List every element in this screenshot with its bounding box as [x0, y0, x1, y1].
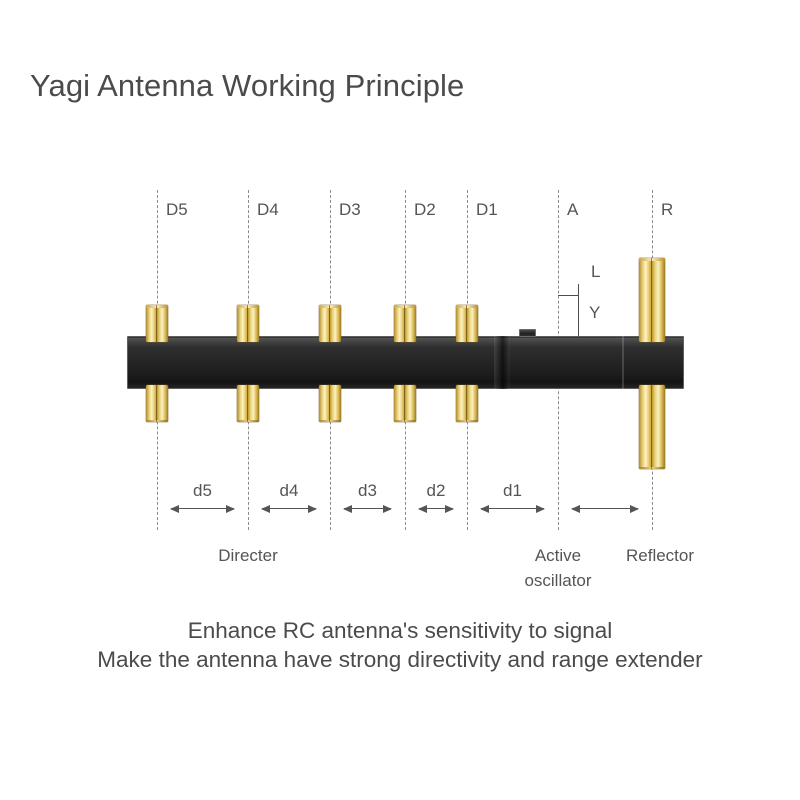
- dimension-arrow-d3: [344, 508, 391, 509]
- rod-d5-lower: [146, 385, 168, 422]
- dimension-label-d3: d3: [344, 481, 391, 501]
- dimension-arrow-d1: [481, 508, 544, 509]
- rod-cap-icon: [639, 467, 665, 470]
- offset-label-Y: Y: [589, 303, 600, 323]
- rod-cap-icon: [456, 305, 478, 308]
- element-label-d2: D2: [414, 200, 436, 220]
- antenna-diagram: D5D4D3D2D1AR L Y d5d4d3d2d1 DirecterActi…: [0, 0, 800, 800]
- element-label-d5: D5: [166, 200, 188, 220]
- offset-marker-horizontal-tick: [558, 295, 579, 296]
- rod-cap-icon: [319, 305, 341, 308]
- rod-d3-upper: [319, 305, 341, 342]
- dimension-label-d5: d5: [171, 481, 234, 501]
- rod-d5-upper: [146, 305, 168, 342]
- rod-cap-icon: [146, 420, 168, 423]
- boom-segment-edge: [622, 336, 624, 389]
- element-label-d4: D4: [257, 200, 279, 220]
- rod-d3-lower: [319, 385, 341, 422]
- rod-cap-icon: [237, 420, 259, 423]
- element-label-r: R: [661, 200, 673, 220]
- rod-cap-icon: [394, 420, 416, 423]
- group-caption-reflector: Reflector: [570, 543, 750, 568]
- dimension-arrow-d5: [171, 508, 234, 509]
- dimension-arrow-d2: [419, 508, 453, 509]
- length-label-L: L: [591, 262, 600, 282]
- dimension-label-d4: d4: [262, 481, 316, 501]
- rod-cap-icon: [146, 305, 168, 308]
- rod-d1-lower: [456, 385, 478, 422]
- element-label-d3: D3: [339, 200, 361, 220]
- rod-d4-upper: [237, 305, 259, 342]
- rod-d1-upper: [456, 305, 478, 342]
- rod-cap-icon: [456, 420, 478, 423]
- rod-d4-lower: [237, 385, 259, 422]
- rod-r-upper: [639, 258, 665, 342]
- diagram-page: Yagi Antenna Working Principle D5D4D3D2D…: [0, 0, 800, 800]
- caption-line-1: Enhance RC antenna's sensitivity to sign…: [0, 618, 800, 644]
- rod-cap-icon: [394, 305, 416, 308]
- dimension-arrow-a-r: [572, 508, 638, 509]
- rod-r-lower: [639, 385, 665, 469]
- length-marker-vertical-line: [578, 284, 579, 337]
- rod-cap-icon: [237, 305, 259, 308]
- dimension-arrow-d4: [262, 508, 316, 509]
- caption-line-2: Make the antenna have strong directivity…: [0, 647, 800, 673]
- rod-cap-icon: [639, 258, 665, 261]
- dimension-label-d2: d2: [419, 481, 453, 501]
- element-label-d1: D1: [476, 200, 498, 220]
- rod-d2-lower: [394, 385, 416, 422]
- element-label-a: A: [567, 200, 578, 220]
- feed-connector-nub: [519, 329, 536, 337]
- antenna-boom: [127, 336, 684, 389]
- rod-cap-icon: [319, 420, 341, 423]
- rod-d2-upper: [394, 305, 416, 342]
- dimension-label-d1: d1: [481, 481, 544, 501]
- group-caption-director: Directer: [158, 543, 338, 568]
